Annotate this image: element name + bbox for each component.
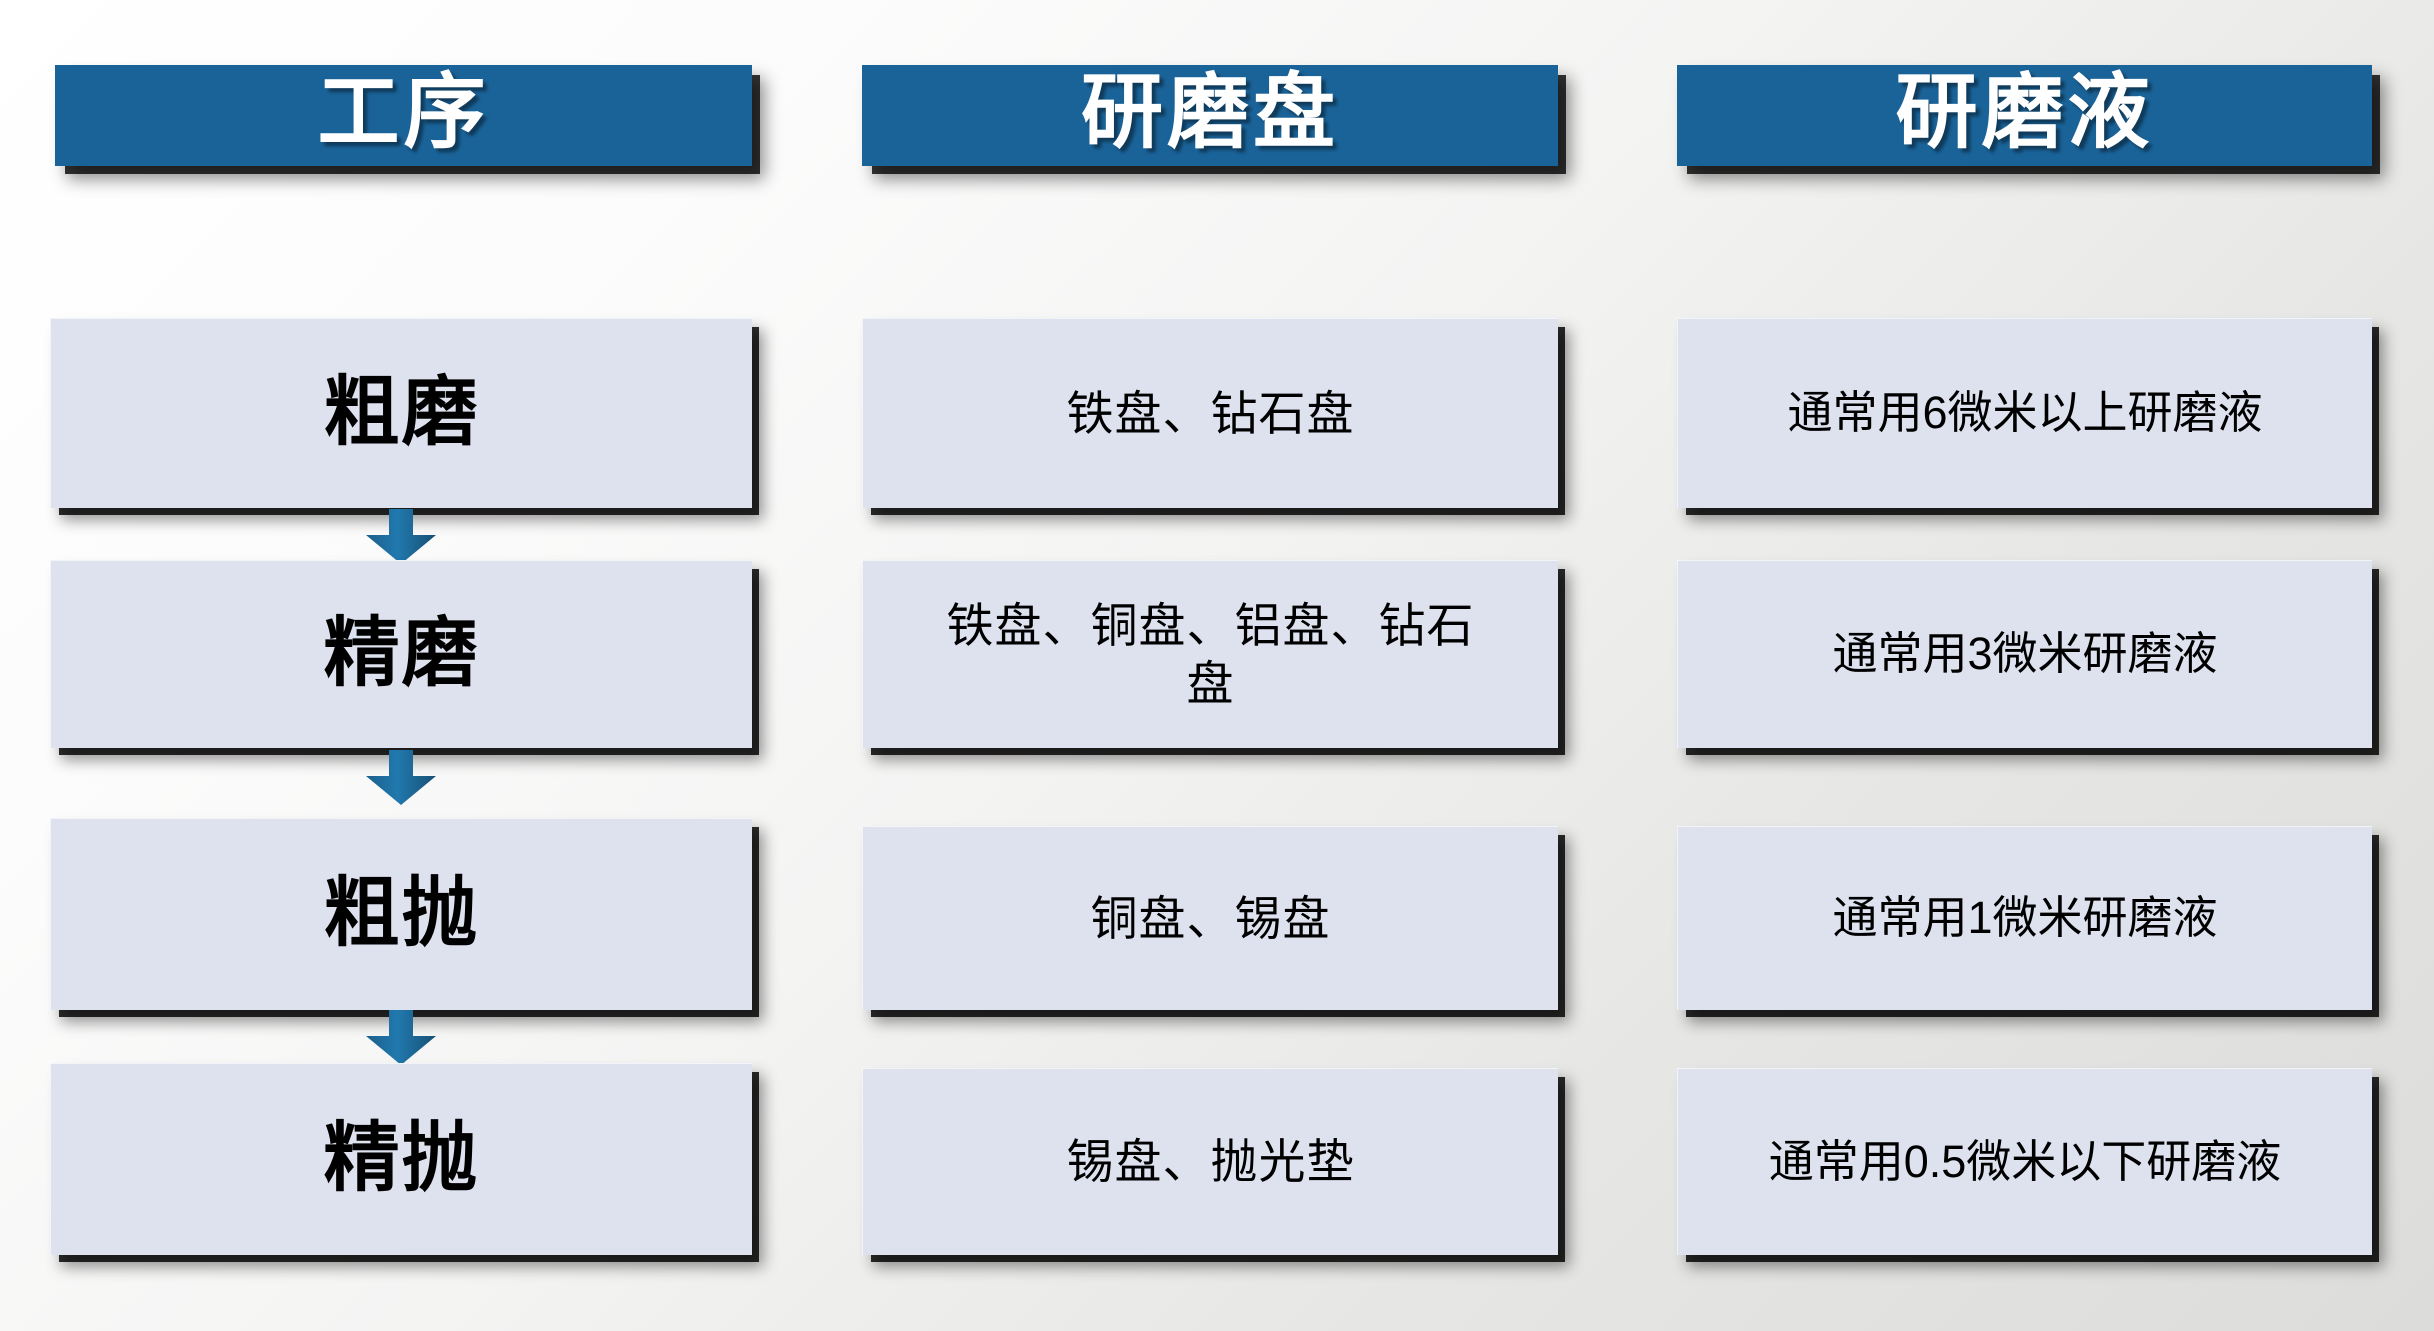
column-header-grinding-fluid: 研磨液 <box>1677 65 2372 166</box>
process-name: 精抛 <box>79 1113 724 1206</box>
process-name: 精磨 <box>79 608 724 701</box>
down-arrow-icon <box>362 509 440 565</box>
table-row: 粗抛 <box>50 818 752 1010</box>
table-row: 精磨 <box>50 560 752 748</box>
grinding-plate-value: 锡盘、抛光垫 <box>891 1133 1530 1190</box>
grinding-fluid-value: 通常用6微米以上研磨液 <box>1706 386 2344 441</box>
down-arrow-icon <box>362 1010 440 1066</box>
column-header-process-label: 工序 <box>317 72 489 160</box>
process-name: 粗抛 <box>79 868 724 961</box>
down-arrow-icon <box>362 750 440 806</box>
grinding-plate-value: 铜盘、锡盘 <box>891 890 1530 947</box>
grinding-fluid-value: 通常用0.5微米以下研磨液 <box>1706 1135 2344 1190</box>
table-row: 通常用3微米研磨液 <box>1677 560 2372 748</box>
grinding-fluid-value: 通常用3微米研磨液 <box>1706 627 2344 682</box>
process-name: 粗磨 <box>79 367 724 460</box>
table-row: 锡盘、抛光垫 <box>862 1068 1558 1255</box>
grinding-plate-value: 铁盘、铜盘、铝盘、钻石盘 <box>939 597 1481 712</box>
grinding-fluid-value: 通常用1微米研磨液 <box>1706 891 2344 946</box>
table-row: 铁盘、钻石盘 <box>862 318 1558 508</box>
column-header-grinding-fluid-label: 研磨液 <box>1895 72 2153 160</box>
table-row: 通常用0.5微米以下研磨液 <box>1677 1068 2372 1255</box>
column-header-process: 工序 <box>55 65 752 166</box>
column-header-grinding-plate-label: 研磨盘 <box>1081 72 1339 160</box>
table-row: 粗磨 <box>50 318 752 508</box>
flowchart-table: 工序 研磨盘 研磨液 粗磨 铁盘、钻石盘 通常用6微米以上研磨液 精磨 <box>0 0 2434 1331</box>
table-row: 通常用6微米以上研磨液 <box>1677 318 2372 508</box>
table-row: 精抛 <box>50 1063 752 1255</box>
table-row: 通常用1微米研磨液 <box>1677 826 2372 1010</box>
column-header-grinding-plate: 研磨盘 <box>862 65 1558 166</box>
table-row: 铁盘、铜盘、铝盘、钻石盘 <box>862 560 1558 748</box>
grinding-plate-value: 铁盘、钻石盘 <box>891 385 1530 442</box>
table-row: 铜盘、锡盘 <box>862 826 1558 1010</box>
